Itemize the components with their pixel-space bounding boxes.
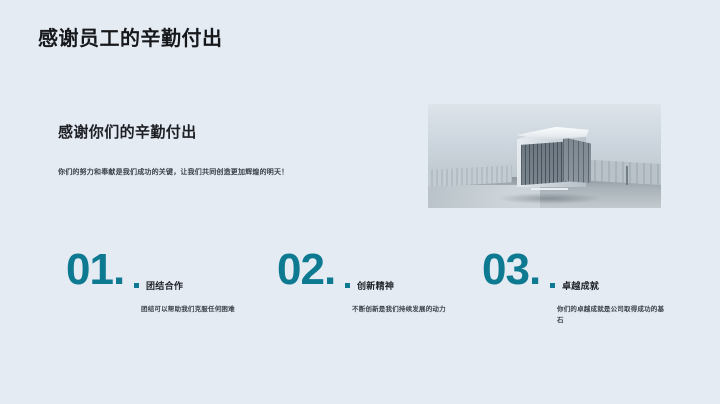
- feature-description: 不断创新是我们持续发展的动力: [352, 304, 460, 315]
- feature-list: 01. 团结合作 团结可以帮助我们克服任何困难 02. 创新精神 不断创新是我们…: [0, 248, 720, 358]
- hero-image: [428, 104, 661, 208]
- hero-glass-facade: [521, 141, 568, 185]
- hero-wall-seam: [626, 166, 628, 185]
- feature-description: 团结可以帮助我们克服任何困难: [141, 304, 249, 315]
- feature-heading-row: 团结合作: [134, 279, 183, 292]
- feature-description: 你们的卓越成就是公司取得成功的基石: [557, 304, 665, 327]
- lead-heading: 感谢你们的辛勤付出: [58, 121, 197, 142]
- slide-canvas: 感谢员工的辛勤付出 感谢你们的辛勤付出 你们的努力和奉献是我们成功的关键，让我们…: [0, 0, 720, 404]
- square-bullet-icon: [134, 283, 139, 288]
- hero-glass-facade-side: [563, 137, 591, 183]
- feature-heading-row: 卓越成就: [550, 279, 599, 292]
- hero-shadow: [498, 193, 601, 203]
- square-bullet-icon: [550, 283, 555, 288]
- feature-number: 02.: [277, 248, 335, 292]
- feature-title: 创新精神: [357, 279, 394, 292]
- feature-item-3: 03. 卓越成就 你们的卓越成就是公司取得成功的基石: [482, 248, 682, 358]
- square-bullet-icon: [345, 283, 350, 288]
- feature-title: 团结合作: [146, 279, 183, 292]
- feature-number: 01.: [66, 248, 124, 292]
- feature-heading-row: 创新精神: [345, 279, 394, 292]
- lead-body-text: 你们的努力和奉献是我们成功的关键，让我们共同创造更加辉煌的明天！: [58, 168, 408, 179]
- page-title: 感谢员工的辛勤付出: [38, 27, 223, 51]
- feature-title: 卓越成就: [562, 279, 599, 292]
- feature-number: 03.: [482, 248, 540, 292]
- hero-railing: [531, 188, 568, 190]
- feature-item-1: 01. 团结合作 团结可以帮助我们克服任何困难: [66, 248, 266, 358]
- feature-item-2: 02. 创新精神 不断创新是我们持续发展的动力: [277, 248, 477, 358]
